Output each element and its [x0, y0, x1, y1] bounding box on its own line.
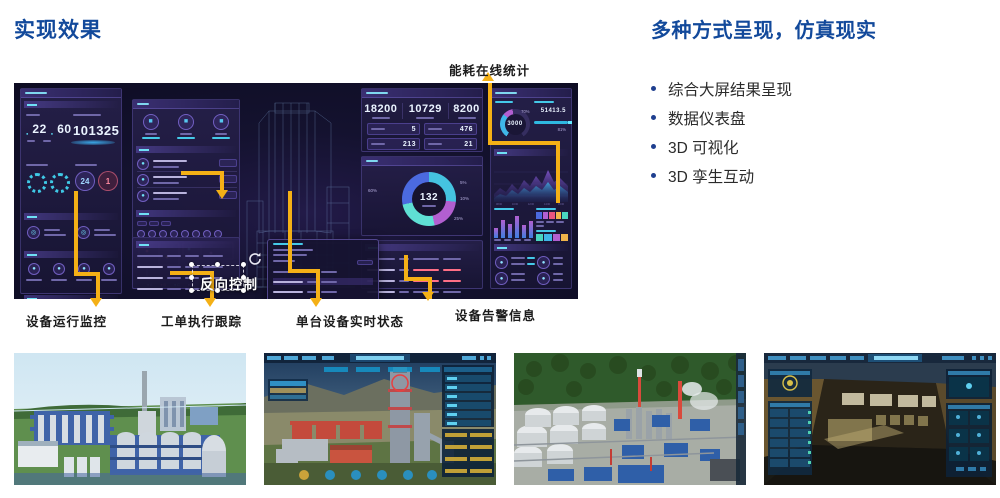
- reverse-control-label: 反向控制: [200, 273, 258, 293]
- device-chip: ●: [53, 263, 65, 275]
- bar-chart-area-usage: [494, 212, 533, 238]
- callout-label-2: 工单执行跟踪: [161, 311, 242, 330]
- bar-chart-block: [494, 208, 533, 241]
- svg-text:08:00: 08:00: [496, 203, 503, 206]
- callout-path-3-v: [288, 191, 292, 273]
- kpi-tile[interactable]: 21: [424, 138, 477, 150]
- callout-arrow-1: [90, 298, 102, 307]
- count-online-value: 24: [81, 177, 90, 186]
- selection-handle: [189, 288, 194, 293]
- page-title-right: 多种方式呈现，仿真现实: [651, 14, 877, 43]
- callout-label-top: 能耗在线统计: [449, 60, 530, 79]
- selection-handle: [215, 262, 220, 267]
- feature-list: 综合大屏结果呈现 数据仪表盘 3D 可视化 3D 孪生互动: [651, 76, 981, 192]
- panel-header: [491, 89, 571, 98]
- svg-text:16:00: 16:00: [558, 203, 565, 206]
- stack-chart-block: [536, 208, 568, 241]
- kpi-tile[interactable]: 213: [367, 138, 420, 150]
- kpi-value: 476: [460, 126, 473, 133]
- table-row[interactable]: [137, 296, 235, 299]
- donut-label: 25%: [454, 216, 463, 221]
- metric-value: 18200: [364, 103, 397, 115]
- table-header: [137, 252, 235, 259]
- page-title-left: 实现效果: [14, 14, 102, 44]
- panel-equipment-monitor[interactable]: ● 22 ● 60 101325: [20, 88, 122, 294]
- callout-label-3: 单台设备实时状态: [296, 311, 404, 330]
- donut-label: 5%: [460, 180, 467, 185]
- kpi-tile[interactable]: 476: [424, 123, 477, 135]
- thumbnail-refinery-aerial[interactable]: [514, 353, 746, 485]
- list-item-label: 3D 可视化: [668, 134, 739, 163]
- metric-temperature: 22: [32, 122, 46, 136]
- list-item: 3D 孪生互动: [651, 163, 981, 192]
- workorder-tile[interactable]: ■: [212, 114, 230, 139]
- table-row[interactable]: [367, 266, 477, 273]
- panel-alarm-table[interactable]: [361, 240, 483, 289]
- progress-pct: 81%: [558, 127, 566, 132]
- donut-label: 10%: [460, 196, 469, 201]
- selection-handle: [189, 262, 194, 267]
- device-chip: ●: [537, 256, 550, 269]
- callout-arrow-2: [204, 298, 216, 307]
- device-chip: ●: [495, 272, 508, 285]
- refresh-icon[interactable]: [247, 251, 263, 267]
- dashboard-screenshot: ● 22 ● 60 101325: [14, 83, 578, 299]
- panel-quality-events[interactable]: 132 60% 5% 10% 25%: [361, 156, 483, 236]
- count-alarm: 1: [98, 171, 118, 191]
- callout-arrow-4: [422, 292, 434, 301]
- section-header-floorplan: [136, 210, 236, 217]
- metric-value: 8200: [453, 103, 479, 115]
- kpi-value: 5: [412, 126, 416, 133]
- total-block: 51413.5 81%: [533, 101, 569, 143]
- callout-path-1-v2: [96, 272, 100, 299]
- selection-handle: [241, 288, 246, 293]
- workorder-tile[interactable]: ■: [177, 114, 195, 139]
- selection-handle: [241, 262, 246, 267]
- list-item: 数据仪表盘: [651, 105, 981, 134]
- thumbnail-strip: [14, 353, 986, 485]
- callout-arrow-3: [310, 298, 322, 307]
- selection-handle: [241, 275, 246, 280]
- panel-header: [362, 89, 482, 98]
- stacked-strip-2: [536, 234, 568, 241]
- section-header-environment: [24, 101, 118, 108]
- donut-center-value: 132: [420, 192, 438, 203]
- stacked-strip-1: [536, 212, 568, 219]
- kpi-value: 21: [464, 141, 473, 148]
- thumbnail-plant-3d-blue[interactable]: [14, 353, 246, 485]
- device-chip: ◎: [27, 226, 40, 239]
- callout-path-5-h: [488, 141, 560, 145]
- list-item-label: 数据仪表盘: [668, 105, 746, 134]
- section-header-alarm-device: [136, 146, 236, 153]
- metric-humidity: 60: [57, 122, 71, 136]
- count-online: 24: [75, 171, 95, 191]
- selection-handle: [215, 288, 220, 293]
- section-header-records: [136, 241, 236, 248]
- workorder-tile[interactable]: ■: [142, 114, 160, 139]
- metric-block: 10729: [402, 103, 449, 119]
- thumbnail-digital-twin-overlay[interactable]: [264, 353, 496, 485]
- list-item-label: 综合大屏结果呈现: [668, 76, 792, 105]
- panel-realtime-metrics[interactable]: 18200 10729 8200 5: [361, 88, 483, 152]
- count-alarm-value: 1: [106, 177, 110, 186]
- callout-label-4: 设备告警信息: [455, 305, 536, 324]
- total-value: 51413.5: [541, 108, 566, 114]
- callout-path-5-v-right: [556, 141, 560, 203]
- callout-path-rev-h: [181, 171, 224, 175]
- thumbnail-indoor-3d-scene[interactable]: [764, 353, 996, 485]
- bullet-icon: [651, 144, 656, 149]
- callout-arrow-rev: [216, 190, 228, 199]
- section-header-fire: [24, 251, 118, 258]
- section-header-alarm-table: [365, 244, 479, 251]
- list-item: 3D 可视化: [651, 134, 981, 163]
- device-chip: ◎: [77, 226, 90, 239]
- donut-label: 60%: [368, 188, 377, 193]
- callout-path-rev-v: [220, 171, 224, 192]
- kpi-value: 213: [403, 141, 416, 148]
- slide-root: 实现效果 多种方式呈现，仿真现实 综合大屏结果呈现 数据仪表盘 3D 可视化 3…: [0, 0, 1000, 498]
- svg-text:14:00: 14:00: [544, 203, 551, 206]
- bullet-icon: [651, 86, 656, 91]
- metric-value: 10729: [409, 103, 442, 115]
- list-item-label: 3D 孪生互动: [668, 163, 754, 192]
- bullet-icon: [651, 115, 656, 120]
- metric-pressure: 101325: [73, 123, 119, 138]
- svg-text:10:00: 10:00: [512, 203, 519, 206]
- kpi-tile[interactable]: 5: [367, 123, 420, 135]
- callout-path-1-v: [74, 191, 78, 276]
- device-chip: ●: [537, 272, 550, 285]
- panel-header: [133, 100, 239, 109]
- popup-ai-prediction[interactable]: [267, 239, 379, 299]
- list-item: 综合大屏结果呈现: [651, 76, 981, 105]
- gauge-pct: 70%: [521, 109, 529, 114]
- gauge-block: 3000 70%: [494, 101, 530, 143]
- section-header-env2: [24, 295, 118, 299]
- device-chip: ●: [103, 263, 115, 275]
- panel-header: [362, 157, 482, 166]
- donut-chart-quality: 132: [402, 172, 456, 226]
- section-header-public: [24, 213, 118, 220]
- section-header-key-devices: [494, 244, 568, 251]
- callout-path-5-v-left: [488, 83, 492, 143]
- panel-header: [21, 89, 121, 98]
- device-chip: ●: [495, 256, 508, 269]
- selection-handle: [189, 275, 194, 280]
- gauge-fan-1: [27, 173, 47, 193]
- callout-label-1: 设备运行监控: [26, 311, 107, 330]
- gauge-fan-2: [50, 173, 70, 193]
- metric-block: 18200: [364, 103, 397, 119]
- device-chip: ●: [28, 263, 40, 275]
- table-header: [367, 255, 477, 262]
- bullet-icon: [651, 173, 656, 178]
- gauge-value: 3000: [507, 121, 522, 127]
- svg-text:12:00: 12:00: [528, 203, 535, 206]
- callout-path-3-v2: [316, 269, 320, 299]
- metric-block: 8200: [453, 103, 479, 119]
